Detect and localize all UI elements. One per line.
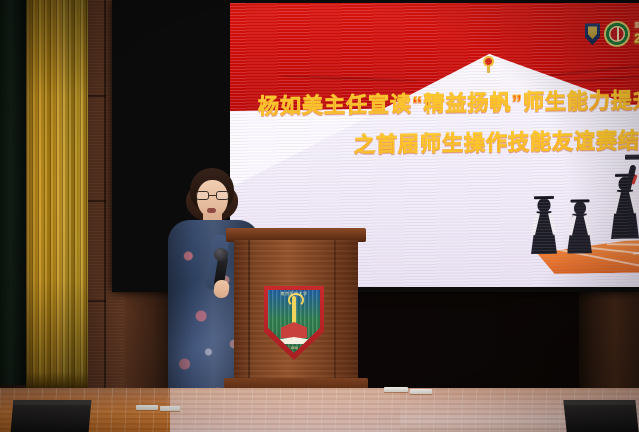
wooden-lectern: 南京医科大学 1934 xyxy=(234,228,358,408)
event-title: 2023届毕业生欢送会 xyxy=(634,30,639,45)
floor-paper xyxy=(160,406,180,411)
wall-seam xyxy=(86,200,106,202)
lectern-edge-left xyxy=(248,240,250,382)
crest-book-icon xyxy=(276,337,312,344)
thrown-cap-icon xyxy=(625,155,639,160)
event-banner: 夏风“护”你 “理”想飞扬 2023届毕业生欢送会 xyxy=(585,11,639,56)
graduate-figure xyxy=(531,198,557,254)
graduates-silhouette-illustration xyxy=(527,151,639,275)
university-shield-emblem-icon xyxy=(585,23,600,45)
floor-paper xyxy=(136,405,158,410)
stage-monitor-left xyxy=(11,400,92,432)
nursing-circle-emblem-icon xyxy=(604,21,630,47)
floor-paper xyxy=(410,389,432,394)
glasses-icon xyxy=(196,191,229,200)
gold-curtain-ornament-icon xyxy=(483,56,494,72)
graduate-figure xyxy=(567,201,592,253)
floor-paper xyxy=(384,387,408,392)
crest-university-name: 南京医科大学 xyxy=(264,291,324,297)
stage-monitor-right xyxy=(563,400,638,432)
stage-floor-reflection xyxy=(0,388,639,432)
mouth xyxy=(207,208,216,213)
crest-building-icon xyxy=(281,322,307,338)
event-slogan: 夏风“护”你 “理”想飞扬 xyxy=(634,21,639,30)
event-banner-text: 夏风“护”你 “理”想飞扬 2023届毕业生欢送会 xyxy=(634,21,639,45)
gold-curtain-shading xyxy=(26,0,88,390)
graduate-figure xyxy=(611,167,639,239)
wall-seam xyxy=(86,95,106,97)
lectern-edge-right xyxy=(334,240,336,382)
screenshot-root: 夏风“护”你 “理”想飞扬 2023届毕业生欢送会 杨如美主任宣读“精益扬帆”师… xyxy=(0,0,639,432)
rod-of-asclepius-icon xyxy=(292,296,296,326)
headline-block: 杨如美主任宣读“精益扬帆”师生能力提升行动 之首届师生操作技能友谊赛结果 xyxy=(230,83,639,161)
wall-seam xyxy=(86,300,106,302)
